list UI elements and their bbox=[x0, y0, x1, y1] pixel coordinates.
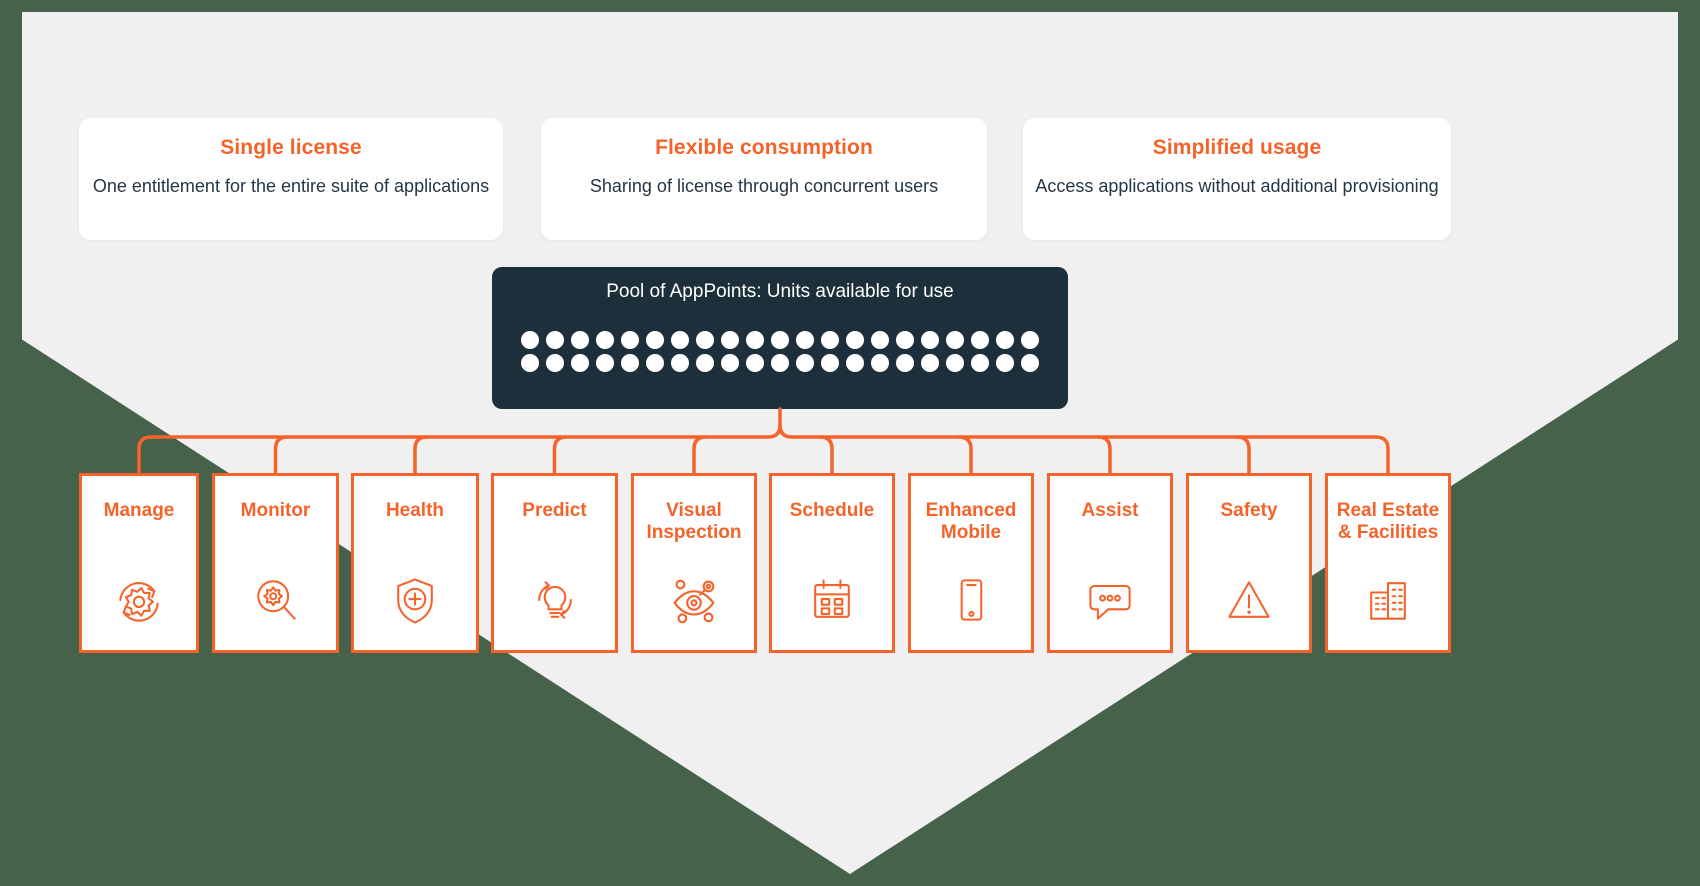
application-label: VisualInspection bbox=[642, 500, 745, 545]
application-label: Health bbox=[382, 500, 448, 522]
application-box-monitor[interactable]: Monitor bbox=[212, 473, 339, 653]
warning-triangle-icon bbox=[1189, 568, 1309, 628]
application-box-visual-inspection[interactable]: VisualInspection bbox=[631, 473, 757, 653]
application-box-safety[interactable]: Safety bbox=[1186, 473, 1312, 653]
application-box-schedule[interactable]: Schedule bbox=[769, 473, 895, 653]
application-box-predict[interactable]: Predict bbox=[491, 473, 618, 653]
application-box-assist[interactable]: Assist bbox=[1047, 473, 1173, 653]
application-box-real-estate-facilities[interactable]: Real Estate& Facilities bbox=[1325, 473, 1451, 653]
application-label: Assist bbox=[1077, 500, 1142, 522]
application-label: Safety bbox=[1216, 500, 1281, 522]
application-box-manage[interactable]: Manage bbox=[79, 473, 199, 653]
application-label: Real Estate& Facilities bbox=[1333, 500, 1443, 545]
application-label: Predict bbox=[518, 500, 590, 522]
buildings-icon bbox=[1328, 568, 1448, 628]
bulb-refresh-icon bbox=[494, 568, 615, 628]
application-label: EnhancedMobile bbox=[922, 500, 1021, 545]
application-box-enhanced-mobile[interactable]: EnhancedMobile bbox=[908, 473, 1034, 653]
diagram-canvas: Single license One entitlement for the e… bbox=[0, 0, 1700, 886]
mobile-phone-icon bbox=[911, 568, 1031, 628]
application-box-row: ManageMonitorHealthPredictVisualInspecti… bbox=[0, 0, 1700, 886]
application-label: Monitor bbox=[237, 500, 315, 522]
application-box-health[interactable]: Health bbox=[351, 473, 479, 653]
application-label: Schedule bbox=[786, 500, 878, 522]
application-label: Manage bbox=[100, 500, 179, 522]
gear-refresh-icon bbox=[82, 568, 196, 628]
shield-plus-icon bbox=[354, 568, 476, 628]
chat-bubble-dots-icon bbox=[1050, 568, 1170, 628]
eye-target-icon bbox=[634, 568, 754, 628]
calendar-icon bbox=[772, 568, 892, 628]
gear-magnifier-icon bbox=[215, 568, 336, 628]
